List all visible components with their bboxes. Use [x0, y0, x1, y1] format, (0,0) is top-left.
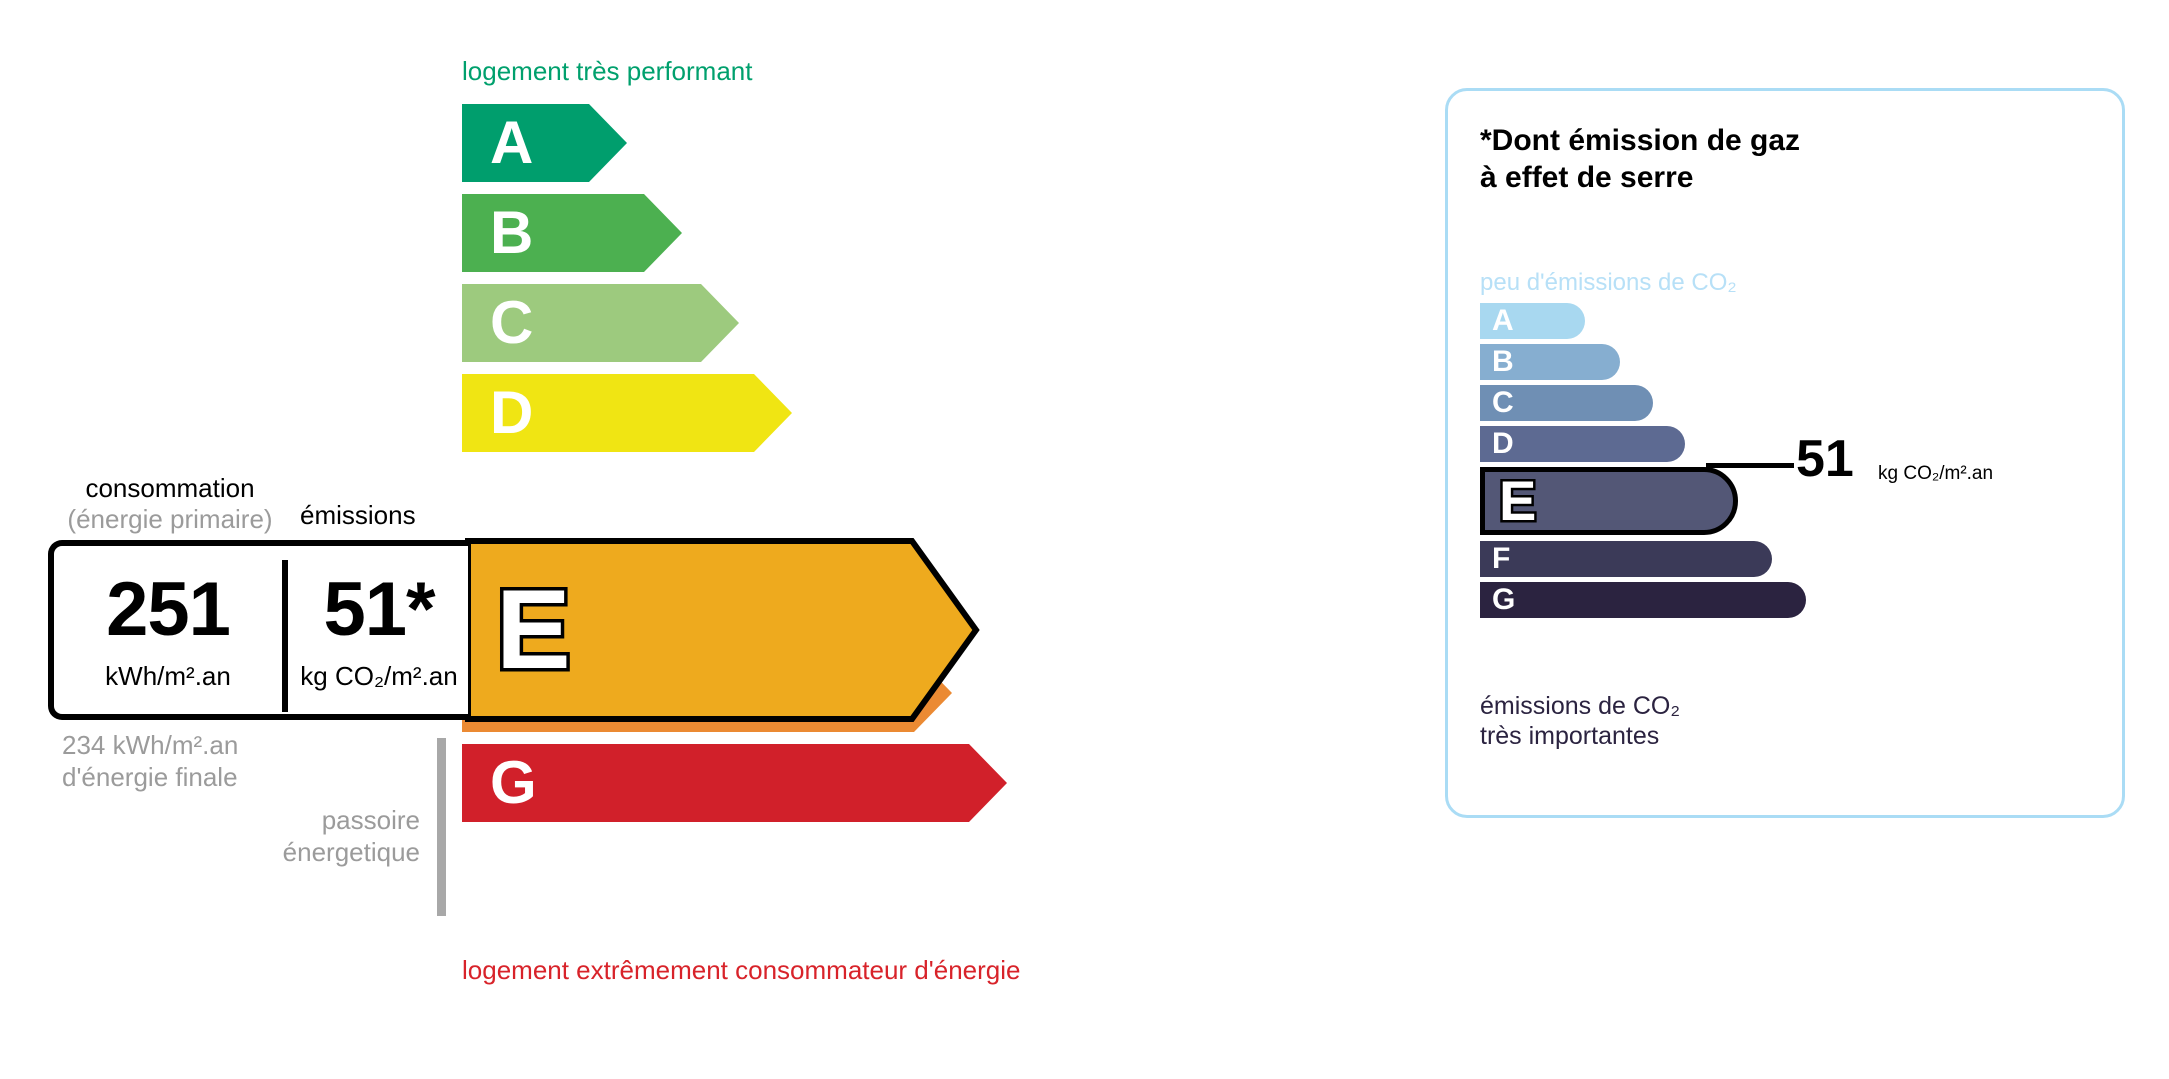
- co2-bar-C: C: [1480, 385, 1653, 421]
- co2-callout-value: 51: [1796, 433, 1854, 485]
- emission-value: 51*: [286, 572, 472, 648]
- passoire-marker-bar: [437, 738, 446, 916]
- energy-band-C-arrow: [462, 284, 739, 362]
- consumption-label-sub: (énergie primaire): [60, 504, 280, 535]
- passoire-label: passoire énergetique: [230, 805, 420, 868]
- emission-value-cell: 51* kg CO₂/m².an: [286, 546, 472, 714]
- co2-callout-line: [1706, 463, 1794, 468]
- energy-band-D-arrow: [462, 374, 792, 452]
- co2-bar-D: D: [1480, 426, 1685, 462]
- emission-unit: kg CO₂/m².an: [286, 661, 472, 692]
- energy-band-E-highlight: E: [462, 535, 982, 725]
- co2-bar-B: B: [1480, 344, 1620, 380]
- consumption-unit: kWh/m².an: [54, 661, 282, 692]
- co2-bar-C-letter: C: [1492, 388, 1514, 418]
- co2-title-line2: à effet de serre: [1480, 160, 1800, 197]
- co2-bar-B-letter: B: [1492, 347, 1514, 377]
- energy-band-G-arrow: [462, 744, 1007, 822]
- energy-band-A: A: [462, 104, 1262, 182]
- co2-title-line1: *Dont émission de gaz: [1480, 123, 1800, 160]
- passoire-line2: énergetique: [230, 837, 420, 869]
- energy-band-B: B: [462, 194, 1262, 272]
- energy-band-C: C: [462, 284, 1262, 362]
- energy-band-D: D: [462, 374, 1262, 452]
- co2-bar-E: E: [1480, 467, 1738, 535]
- final-energy-line1: 234 kWh/m².an: [62, 730, 238, 762]
- consumption-label-main: consommation: [85, 473, 254, 503]
- energy-bottom-caption: logement extrêmement consommateur d'éner…: [462, 955, 1020, 986]
- energy-band-E-letter: E: [496, 574, 571, 686]
- co2-title: *Dont émission de gaz à effet de serre: [1480, 123, 1800, 196]
- co2-bottom-caption-line2: très importantes: [1480, 721, 1680, 751]
- co2-bar-G: G: [1480, 582, 1806, 618]
- value-box: 251 kWh/m².an 51* kg CO₂/m².an: [48, 540, 468, 720]
- co2-bottom-caption-line1: émissions de CO₂: [1480, 691, 1680, 721]
- co2-bar-G-letter: G: [1492, 585, 1515, 615]
- consumption-value-cell: 251 kWh/m².an: [54, 546, 282, 714]
- co2-bar-F-letter: F: [1492, 544, 1510, 574]
- co2-bar-A-letter: A: [1492, 306, 1514, 336]
- co2-bar-D-letter: D: [1492, 429, 1514, 459]
- consumption-value: 251: [54, 572, 282, 648]
- energy-performance-panel: logement très performant ABCDFG E consom…: [0, 0, 1400, 1079]
- emission-label: émissions: [300, 500, 416, 531]
- energy-band-G: G: [462, 744, 1262, 822]
- consumption-label: consommation (énergie primaire): [60, 473, 280, 534]
- passoire-line1: passoire: [230, 805, 420, 837]
- co2-bar-A: A: [1480, 303, 1585, 339]
- co2-panel: *Dont émission de gaz à effet de serre p…: [1445, 88, 2125, 818]
- final-energy-line2: d'énergie finale: [62, 762, 238, 794]
- co2-callout-unit: kg CO₂/m².an: [1878, 463, 1993, 485]
- energy-top-caption: logement très performant: [462, 56, 752, 87]
- energy-band-B-arrow: [462, 194, 682, 272]
- energy-band-A-arrow: [462, 104, 627, 182]
- co2-bar-F: F: [1480, 541, 1772, 577]
- co2-bar-E-letter: E: [1499, 473, 1536, 529]
- co2-top-caption: peu d'émissions de CO₂: [1480, 269, 1737, 297]
- co2-bottom-caption: émissions de CO₂ très importantes: [1480, 691, 1680, 751]
- final-energy-label: 234 kWh/m².an d'énergie finale: [62, 730, 238, 793]
- dpe-diagram: logement très performant ABCDFG E consom…: [0, 0, 2169, 1079]
